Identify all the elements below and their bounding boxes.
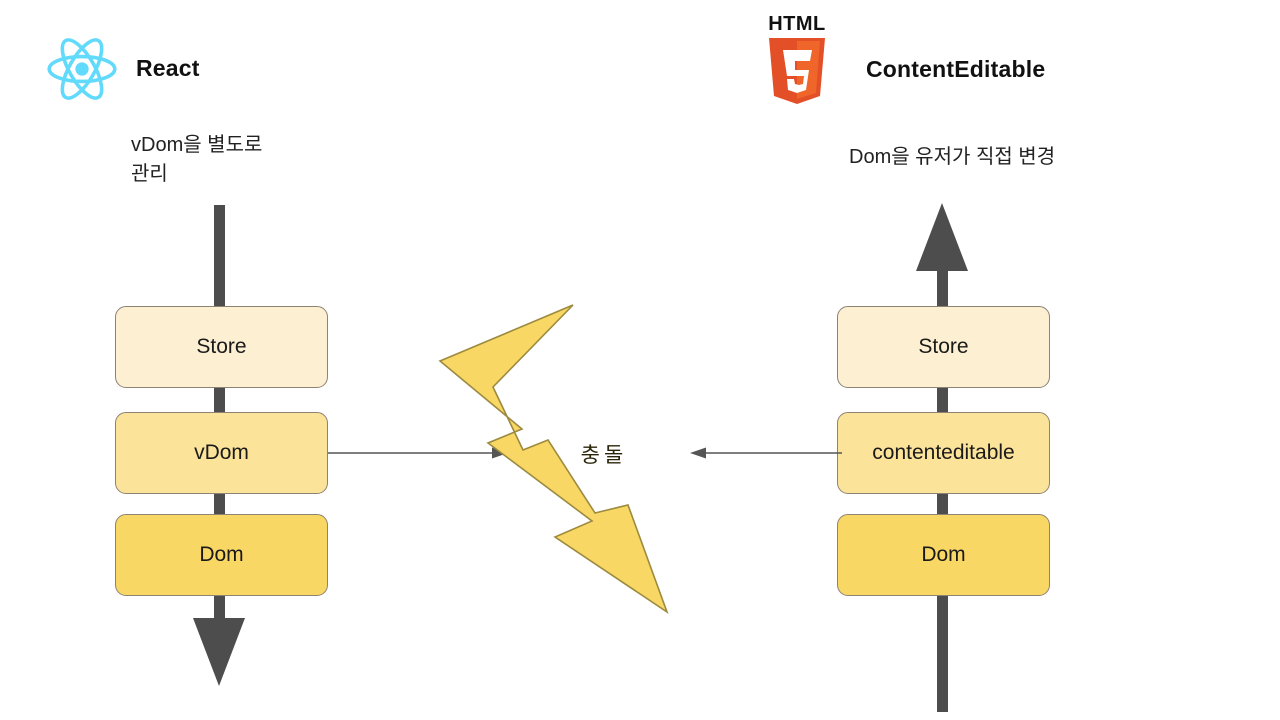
react-caption: vDom을 별도로 관리 [131, 131, 371, 189]
right-node-store-label: Store [918, 335, 968, 359]
left-node-dom-label: Dom [199, 543, 243, 567]
diagram-canvas: React vDom을 별도로 관리 HTML ContentEditable … [0, 0, 1280, 720]
lightning-bolt-icon [430, 300, 790, 620]
contenteditable-caption: Dom을 유저가 직접 변경 [849, 143, 1189, 172]
left-node-vdom[interactable]: vDom [115, 412, 328, 494]
right-node-contenteditable-label: contenteditable [872, 441, 1014, 465]
contenteditable-brand-title: ContentEditable [866, 56, 1045, 83]
left-node-store[interactable]: Store [115, 306, 328, 388]
html5-logo-icon: HTML [759, 8, 835, 108]
react-logo-icon [43, 30, 121, 108]
right-node-store[interactable]: Store [837, 306, 1050, 388]
svg-text:HTML: HTML [768, 13, 826, 35]
right-node-contenteditable[interactable]: contenteditable [837, 412, 1050, 494]
arrow-up-icon [916, 203, 968, 271]
left-node-dom[interactable]: Dom [115, 514, 328, 596]
right-node-dom[interactable]: Dom [837, 514, 1050, 596]
arrow-down-icon [193, 618, 245, 686]
left-node-store-label: Store [196, 335, 246, 359]
right-node-dom-label: Dom [921, 543, 965, 567]
left-node-vdom-label: vDom [194, 441, 249, 465]
react-brand-title: React [136, 55, 200, 82]
